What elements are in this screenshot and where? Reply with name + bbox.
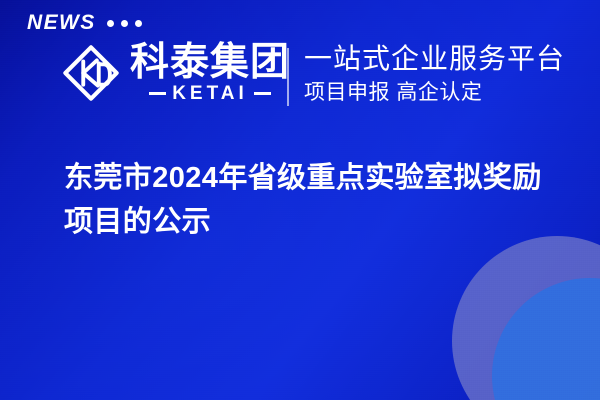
news-dot-3: [135, 20, 142, 27]
brand-rule-left: [149, 92, 166, 95]
brand-name-en-row: KETAI: [149, 84, 271, 103]
news-eyebrow: NEWS: [27, 12, 142, 33]
news-label: NEWS: [27, 12, 96, 33]
news-dot-2: [121, 20, 128, 27]
headline-title: 东莞市2024年省级重点实验室拟奖励项目的公示: [64, 156, 542, 244]
news-banner: NEWS 科泰集团 KETAI: [0, 0, 600, 400]
tagline-primary: 一站式企业服务平台: [304, 41, 565, 77]
tagline-block: 一站式企业服务平台 项目申报 高企认定: [304, 41, 565, 107]
brand-divider: [287, 48, 289, 106]
news-dot-1: [107, 20, 114, 27]
brand-name-cn: 科泰集团: [130, 43, 290, 83]
brand-name-en: KETAI: [172, 84, 248, 103]
brand-names: 科泰集团 KETAI: [130, 43, 290, 103]
news-dots-icon: [107, 18, 142, 27]
brand-lockup: 科泰集团 KETAI: [60, 42, 290, 104]
brand-rule-right: [254, 92, 271, 95]
ketai-logo-icon: [60, 42, 122, 104]
tagline-secondary: 项目申报 高企认定: [304, 79, 565, 107]
